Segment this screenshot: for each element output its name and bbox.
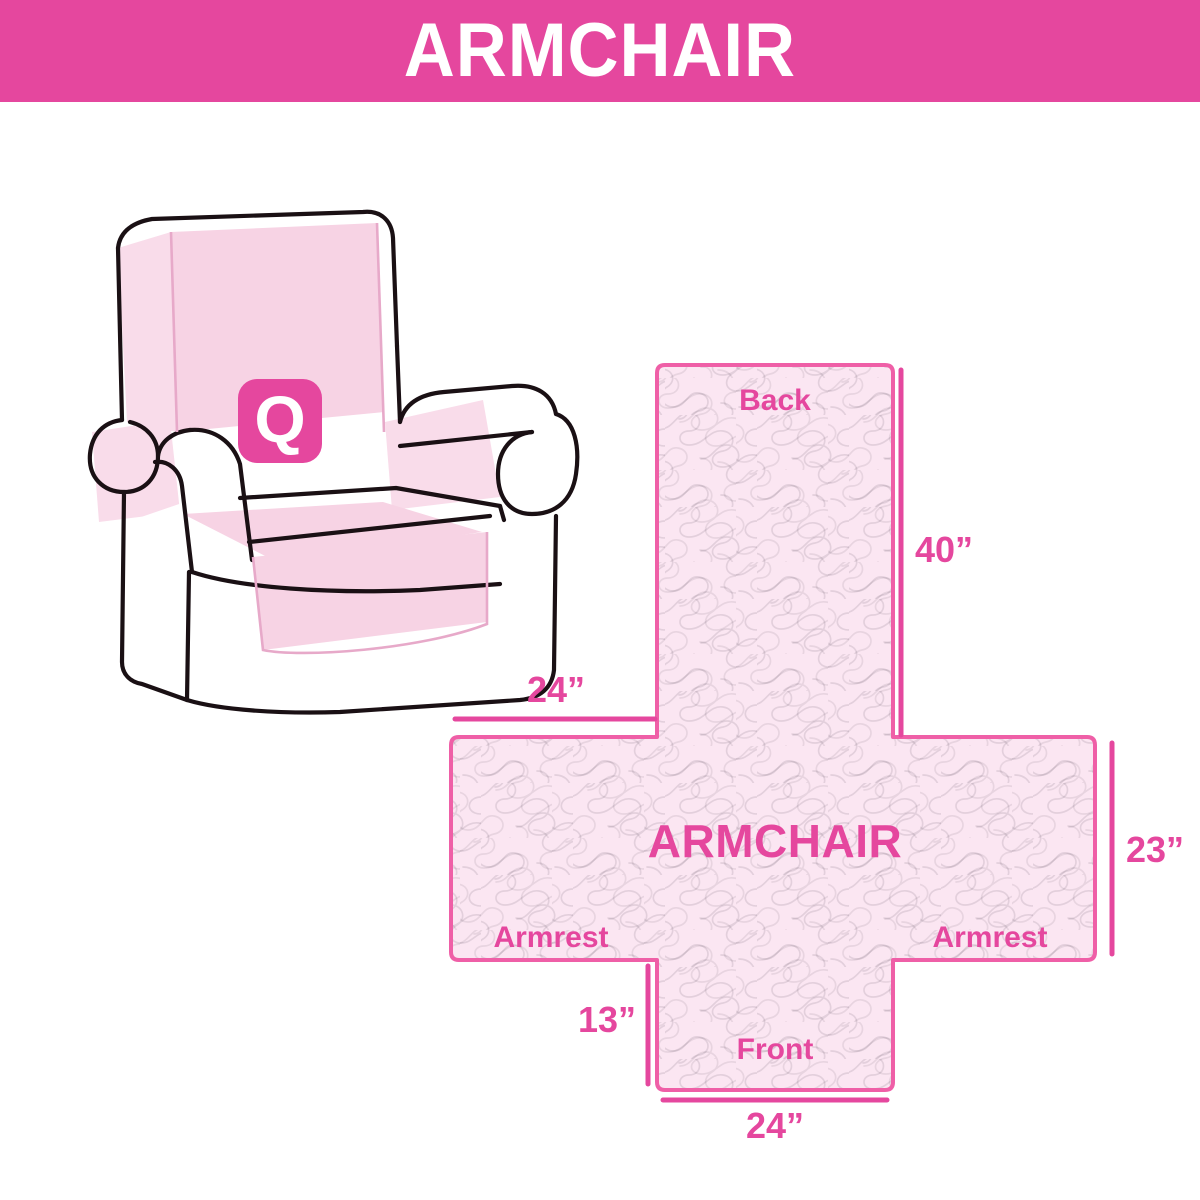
section-label-armrest-right: Armrest	[932, 921, 1047, 954]
dimension-value-back-height: 40”	[915, 529, 973, 570]
section-label-armrest-left: Armrest	[493, 921, 608, 954]
chair-right-arm-roll	[498, 414, 577, 514]
center-product-label: ARMCHAIR	[648, 815, 902, 867]
section-label-front: Front	[737, 1033, 814, 1066]
chair-left-arm-fill	[92, 420, 180, 522]
dimension-value-front-height: 13”	[578, 999, 636, 1040]
quilt-texture-fill-overlay	[440, 352, 1110, 1102]
diagram-canvas: Q Back Armrest Armrest Front ARMCHAIR	[0, 102, 1200, 1200]
dimension-value-front-width: 24”	[746, 1105, 804, 1146]
size-chart-illustration: Q Back Armrest Armrest Front ARMCHAIR	[0, 102, 1200, 1200]
cover-pattern-shape: Back Armrest Armrest Front ARMCHAIR	[440, 352, 1110, 1102]
header-banner: ARMCHAIR	[0, 0, 1200, 102]
chair-back-right-edge	[397, 346, 400, 422]
dimension-value-armrest-depth: 23”	[1126, 829, 1184, 870]
brand-logo-badge: Q	[238, 379, 322, 463]
logo-letter: Q	[254, 382, 305, 456]
page-title: ARMCHAIR	[404, 13, 796, 89]
dimension-value-back-width: 24”	[527, 669, 585, 710]
armchair-illustration: Q	[90, 212, 577, 713]
chair-back-left-fill	[118, 232, 177, 432]
section-label-back: Back	[739, 384, 811, 417]
chair-base-left-corner	[187, 572, 189, 700]
chair-seat-right-edge	[500, 506, 504, 520]
